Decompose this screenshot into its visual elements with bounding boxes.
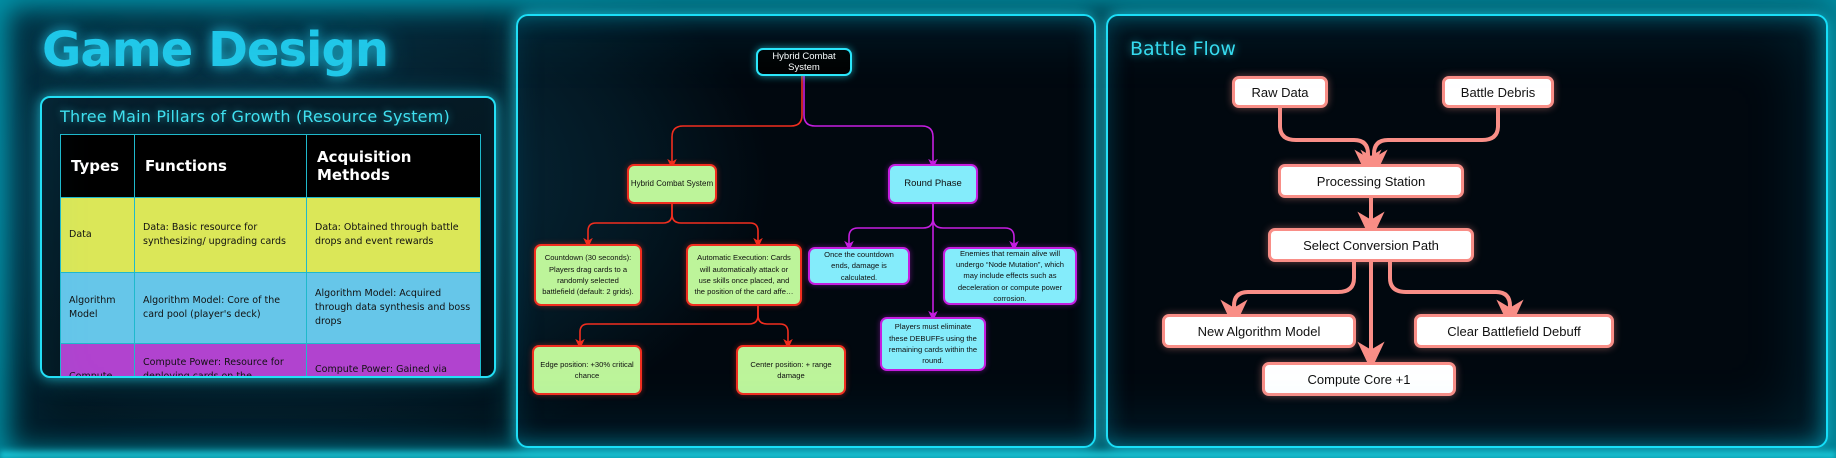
node-hybrid-combat-system[interactable]: Hybrid Combat System	[627, 164, 717, 204]
left-panel: Game Design Three Main Pillars of Growth…	[12, 8, 504, 450]
cell-type: Data	[61, 198, 135, 273]
node-round-phase[interactable]: Round Phase	[888, 164, 978, 204]
cell-function: Compute Power: Resource for deploying ca…	[135, 344, 307, 379]
cell-acquisition: Data: Obtained through battle drops and …	[307, 198, 481, 273]
node-hybrid-combat-system-root[interactable]: Hybrid Combat System	[756, 48, 852, 76]
table-row: Data Data: Basic resource for synthesizi…	[61, 198, 481, 273]
cell-acquisition: Algorithm Model: Acquired through data s…	[307, 273, 481, 344]
combat-flow-panel: Hybrid Combat System Hybrid Combat Syste…	[516, 14, 1096, 448]
node-automatic-execution[interactable]: Automatic Execution: Cards will automati…	[686, 244, 802, 306]
cell-acquisition: Compute Power: Gained via permanent upgr…	[307, 344, 481, 379]
node-raw-data[interactable]: Raw Data	[1232, 76, 1328, 108]
poster-canvas: Game Design Three Main Pillars of Growth…	[0, 0, 1836, 458]
table-row: Algorithm Model Algorithm Model: Core of…	[61, 273, 481, 344]
column-header-acquisition: Acquisition Methods	[307, 135, 481, 198]
table-row: Compute Power Compute Power: Resource fo…	[61, 344, 481, 379]
node-clear-battlefield-debuff[interactable]: Clear Battlefield Debuff	[1414, 314, 1614, 348]
node-compute-core[interactable]: Compute Core +1	[1262, 362, 1456, 396]
resource-system-card: Three Main Pillars of Growth (Resource S…	[40, 96, 496, 378]
node-damage-calculation[interactable]: Once the countdown ends, damage is calcu…	[808, 247, 910, 285]
node-processing-station[interactable]: Processing Station	[1278, 164, 1464, 198]
node-edge-position[interactable]: Edge position: +30% critical chance	[532, 345, 642, 395]
node-clear-debuffs[interactable]: Players must eliminate these DEBUFFs usi…	[880, 317, 986, 371]
cell-type: Algorithm Model	[61, 273, 135, 344]
node-node-mutation[interactable]: Enemies that remain alive will undergo “…	[943, 247, 1077, 305]
cell-function: Algorithm Model: Core of the card pool (…	[135, 273, 307, 344]
node-countdown[interactable]: Countdown (30 seconds): Players drag car…	[534, 244, 642, 306]
node-battle-debris[interactable]: Battle Debris	[1442, 76, 1554, 108]
resource-table: Types Functions Acquisition Methods Data…	[60, 134, 481, 378]
node-select-conversion-path[interactable]: Select Conversion Path	[1268, 228, 1474, 262]
column-header-types: Types	[61, 135, 135, 198]
node-center-position[interactable]: Center position: + range damage	[736, 345, 846, 395]
cell-function: Data: Basic resource for synthesizing/ u…	[135, 198, 307, 273]
table-header-row: Types Functions Acquisition Methods	[61, 135, 481, 198]
card-title: Three Main Pillars of Growth (Resource S…	[60, 107, 450, 126]
cell-type: Compute Power	[61, 344, 135, 379]
battle-flow-panel: Battle Flow	[1106, 14, 1828, 448]
column-header-functions: Functions	[135, 135, 307, 198]
node-new-algorithm-model[interactable]: New Algorithm Model	[1162, 314, 1356, 348]
section-title-battle-flow: Battle Flow	[1130, 38, 1236, 60]
page-title: Game Design	[42, 22, 388, 78]
combat-flow-diagram: Hybrid Combat System Hybrid Combat Syste…	[518, 16, 1094, 446]
